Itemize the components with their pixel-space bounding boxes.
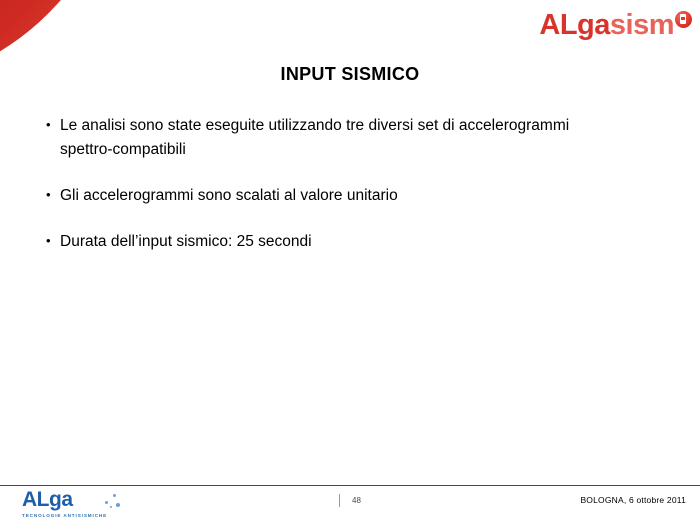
footer-vertical-divider xyxy=(339,494,340,507)
list-item: • Le analisi sono state eseguite utilizz… xyxy=(46,114,660,162)
bullet-point-icon: • xyxy=(46,114,60,137)
brand-logo-text-primary: ALga xyxy=(539,11,610,40)
list-item-text: Durata dell’input sismico: 25 secondi xyxy=(60,230,580,254)
brand-sphere-icon xyxy=(675,11,692,28)
sphere-glyph xyxy=(680,14,686,24)
list-item-text: Gli accelerogrammi sono scalati al valor… xyxy=(60,184,580,208)
bullet-point-icon: • xyxy=(46,230,60,253)
list-item: • Gli accelerogrammi sono scalati al val… xyxy=(46,184,660,208)
page-number: 48 xyxy=(352,496,361,505)
brand-logo-text-secondary: sism xyxy=(610,11,674,40)
page-title: INPUT SISMICO xyxy=(0,64,700,85)
presentation-slide: ALgasism INPUT SISMICO • Le analisi sono… xyxy=(0,0,700,525)
list-item: • Durata dell’input sismico: 25 secondi xyxy=(46,230,660,254)
bullet-list: • Le analisi sono state eseguite utilizz… xyxy=(46,114,660,254)
header-brand-logo: ALgasism xyxy=(539,8,692,42)
slide-footer: ALga TECNOLOGIE ANTISISMICHE 48 BOLOGNA,… xyxy=(0,486,700,525)
bullet-point-icon: • xyxy=(46,184,60,207)
list-item-text: Le analisi sono state eseguite utilizzan… xyxy=(60,114,580,162)
footer-logo-tagline: TECNOLOGIE ANTISISMICHE xyxy=(22,513,142,518)
footer-event-info: BOLOGNA, 6 ottobre 2011 xyxy=(580,495,686,505)
